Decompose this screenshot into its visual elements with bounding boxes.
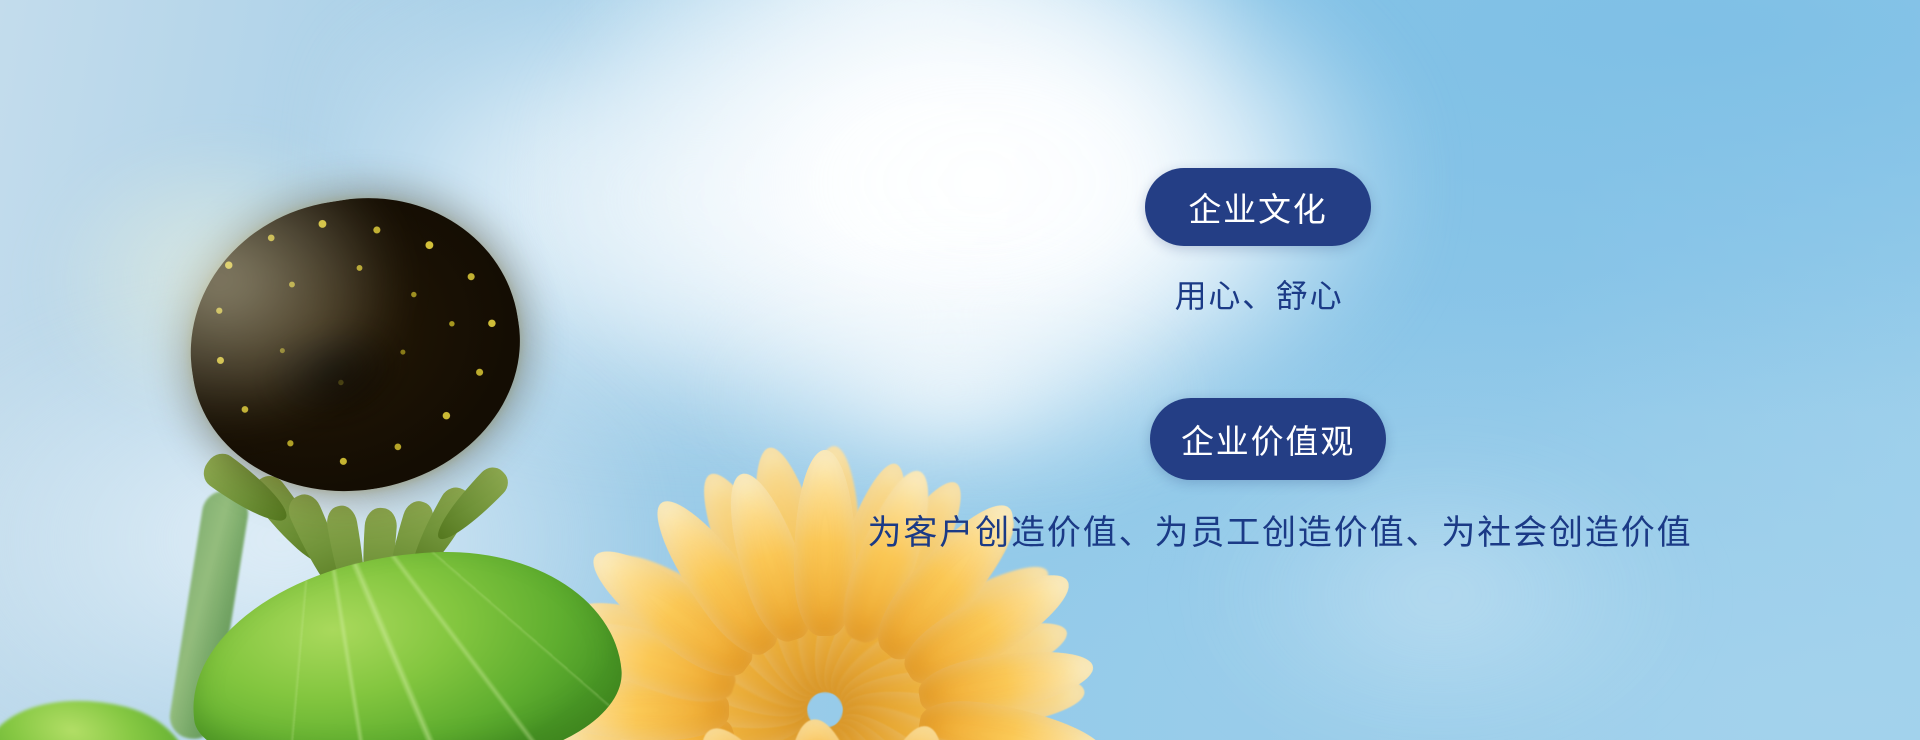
culture-pill-button[interactable]: 企业文化: [1145, 168, 1371, 246]
corporate-culture-banner: 企业文化 用心、舒心 企业价值观 为客户创造价值、为员工创造价值、为社会创造价值: [0, 0, 1920, 740]
values-pill-button[interactable]: 企业价值观: [1150, 398, 1386, 480]
values-tagline: 为客户创造价值、为员工创造价值、为社会创造价值: [560, 505, 1920, 554]
banner-content: 企业文化 用心、舒心 企业价值观 为客户创造价值、为员工创造价值、为社会创造价值: [0, 0, 1920, 740]
culture-tagline: 用心、舒心: [1148, 271, 1370, 317]
